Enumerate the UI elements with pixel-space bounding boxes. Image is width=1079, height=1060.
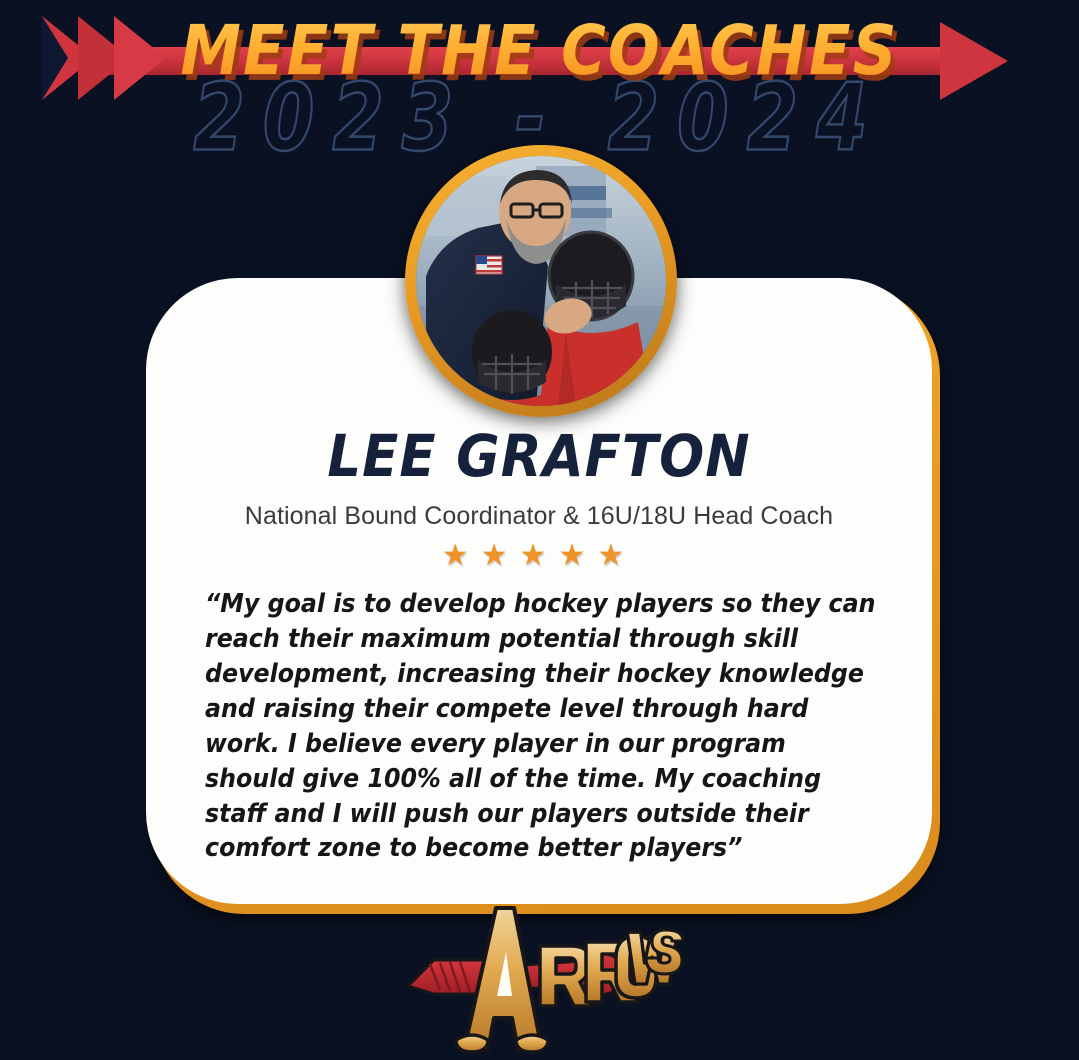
- coach-quote: “My goal is to develop hockey players so…: [192, 587, 889, 866]
- star-icon: ★: [558, 541, 597, 571]
- coach-avatar-photo: [416, 156, 666, 406]
- coach-poster: 2023 - 2024 MEET THE COACHES LEE GRAFTON…: [0, 0, 1079, 1060]
- star-icon: ★: [442, 541, 481, 571]
- header-banner: 2023 - 2024 MEET THE COACHES: [0, 0, 1079, 150]
- coach-role: National Bound Coordinator & 16U/18U Hea…: [192, 502, 886, 531]
- star-icon: ★: [520, 541, 559, 571]
- rating-stars: ★★★★★: [192, 541, 886, 571]
- star-icon: ★: [597, 541, 636, 571]
- coach-name: LEE GRAFTON: [185, 428, 893, 486]
- page-title: MEET THE COACHES: [0, 16, 1079, 84]
- arrows-logo: [390, 890, 690, 1055]
- coach-avatar-ring: [405, 145, 677, 417]
- star-icon: ★: [481, 541, 520, 571]
